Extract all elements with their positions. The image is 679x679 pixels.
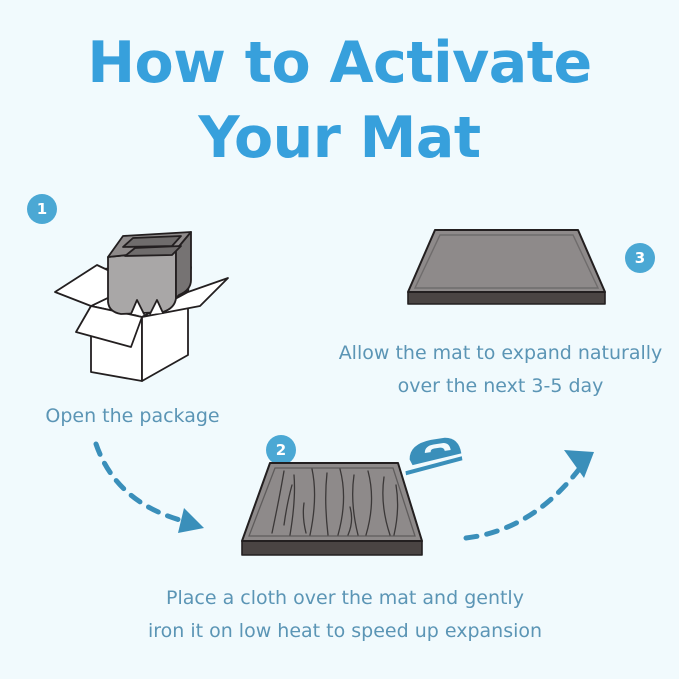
step-3-caption-line-1: Allow the mat to expand naturally — [322, 337, 679, 370]
step-1-caption-text: Open the package — [45, 405, 219, 427]
step-badge-3: 3 — [625, 243, 655, 273]
open-box-svg — [45, 222, 230, 382]
arrow-step2-to-step3 — [458, 438, 608, 553]
page-title: How to Activate Your Mat — [0, 26, 679, 176]
step-badge-1-label: 1 — [37, 200, 47, 218]
step-2-caption-line-1: Place a cloth over the mat and gently — [110, 582, 580, 615]
title-line-2: Your Mat — [0, 101, 679, 176]
flat-mat-svg — [400, 222, 615, 322]
step-badge-3-label: 3 — [635, 249, 645, 267]
curved-dashed-arrow-down-right-icon — [88, 438, 228, 548]
arrow-step1-to-step2 — [88, 438, 228, 553]
step-1-caption: Open the package — [0, 400, 265, 433]
step-badge-1: 1 — [27, 194, 57, 224]
curved-dashed-arrow-up-right-icon — [458, 438, 608, 548]
step-2-caption: Place a cloth over the mat and gently ir… — [110, 582, 580, 649]
title-line-1: How to Activate — [0, 26, 679, 101]
step-2-caption-line-2: iron it on low heat to speed up expansio… — [110, 615, 580, 648]
open-box-illustration — [45, 222, 230, 387]
flat-mat-illustration — [400, 222, 615, 327]
infographic-canvas: How to Activate Your Mat 1 — [0, 0, 679, 679]
step-3-caption-line-2: over the next 3-5 day — [322, 370, 679, 403]
step-3-caption: Allow the mat to expand naturally over t… — [322, 337, 679, 404]
